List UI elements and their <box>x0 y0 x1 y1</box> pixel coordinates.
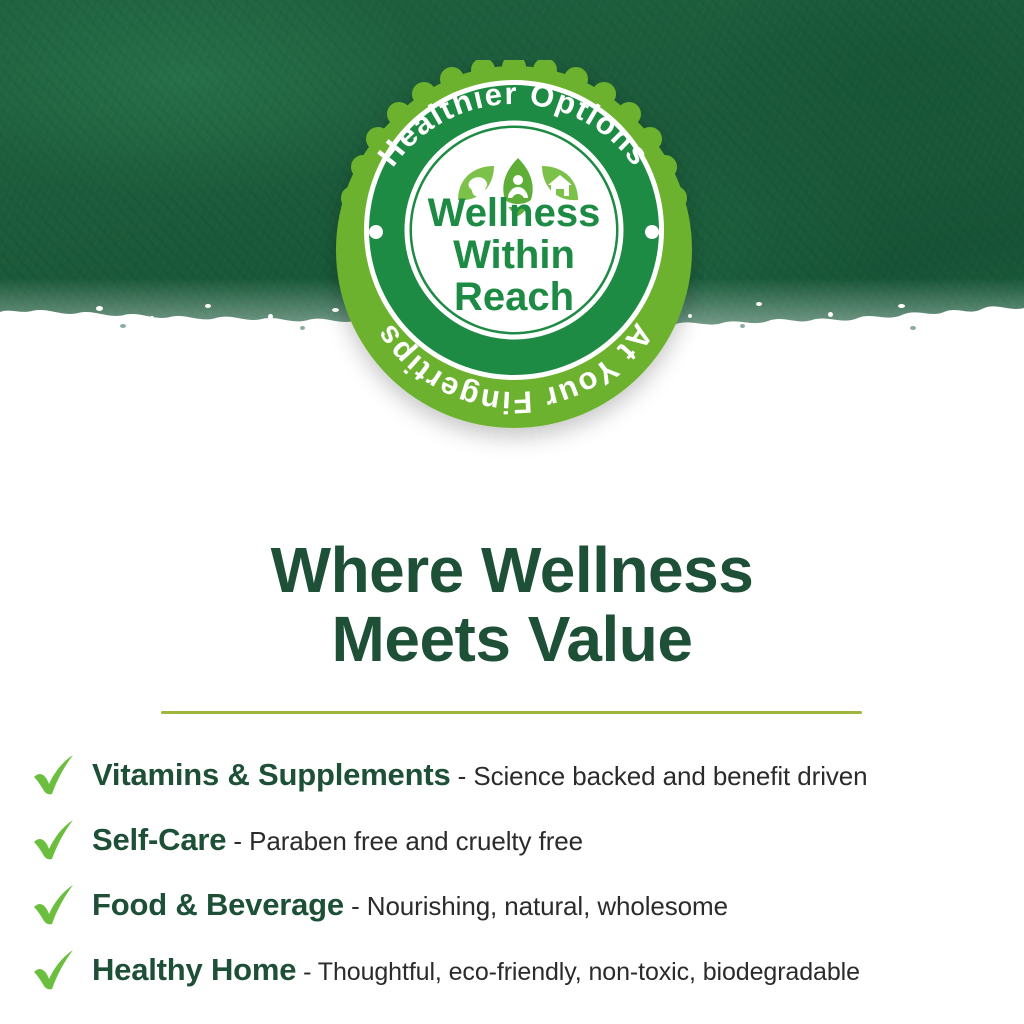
headline-line-1: Where Wellness <box>271 534 754 606</box>
list-item-description: Nourishing, natural, wholesome <box>367 891 728 921</box>
checkmark-icon <box>30 816 78 864</box>
edge-speck-dark <box>740 324 745 328</box>
checkmark-icon <box>30 946 78 994</box>
list-item-separator: - <box>344 891 367 921</box>
list-item-text: Self-Care - Paraben free and cruelty fre… <box>92 824 583 855</box>
checkmark-icon <box>30 881 78 929</box>
list-item-text: Food & Beverage - Nourishing, natural, w… <box>92 889 728 920</box>
edge-speck <box>38 312 43 316</box>
list-item: Healthy Home - Thoughtful, eco-friendly,… <box>0 937 1024 1002</box>
edge-speck <box>756 302 762 306</box>
headline-line-2: Meets Value <box>0 605 1024 674</box>
list-item: Self-Care - Paraben free and cruelty fre… <box>0 807 1024 872</box>
page-title: Where Wellness Meets Value <box>0 536 1024 674</box>
badge-center-line-1: Wellness <box>428 191 601 235</box>
edge-speck <box>205 304 211 308</box>
edge-speck-dark <box>300 326 305 330</box>
edge-speck-dark <box>120 324 126 328</box>
list-item-description: Science backed and benefit driven <box>473 761 867 791</box>
edge-speck <box>828 312 833 317</box>
edge-speck <box>268 314 273 319</box>
edge-speck-dark <box>910 326 916 330</box>
list-item-separator: - <box>296 958 317 986</box>
edge-speck <box>898 304 905 308</box>
benefits-list: Vitamins & Supplements - Science backed … <box>0 742 1024 1002</box>
wellness-badge-seal: Healthier Options At Your Fingertips <box>324 60 704 464</box>
list-item-text: Vitamins & Supplements - Science backed … <box>92 759 868 790</box>
checkmark-icon <box>30 751 78 799</box>
list-item-text: Healthy Home - Thoughtful, eco-friendly,… <box>92 954 860 985</box>
badge-center-line-2: Within <box>453 233 575 277</box>
list-item-separator: - <box>226 826 249 856</box>
badge-separator-dot-right <box>645 225 659 239</box>
list-item-title: Healthy Home <box>92 952 296 987</box>
list-item-separator: - <box>451 761 474 791</box>
list-item: Food & Beverage - Nourishing, natural, w… <box>0 872 1024 937</box>
edge-speck <box>966 314 971 318</box>
badge-center-line-3: Reach <box>454 275 574 319</box>
edge-speck <box>96 306 103 311</box>
list-item-description: Paraben free and cruelty free <box>249 826 583 856</box>
edge-speck <box>150 316 154 320</box>
list-item-description: Thoughtful, eco-friendly, non-toxic, bio… <box>318 958 860 986</box>
list-item: Vitamins & Supplements - Science backed … <box>0 742 1024 807</box>
list-item-title: Vitamins & Supplements <box>92 757 451 792</box>
list-item-title: Food & Beverage <box>92 887 344 922</box>
section-divider <box>161 711 862 714</box>
badge-separator-dot-left <box>369 225 383 239</box>
list-item-title: Self-Care <box>92 822 226 857</box>
